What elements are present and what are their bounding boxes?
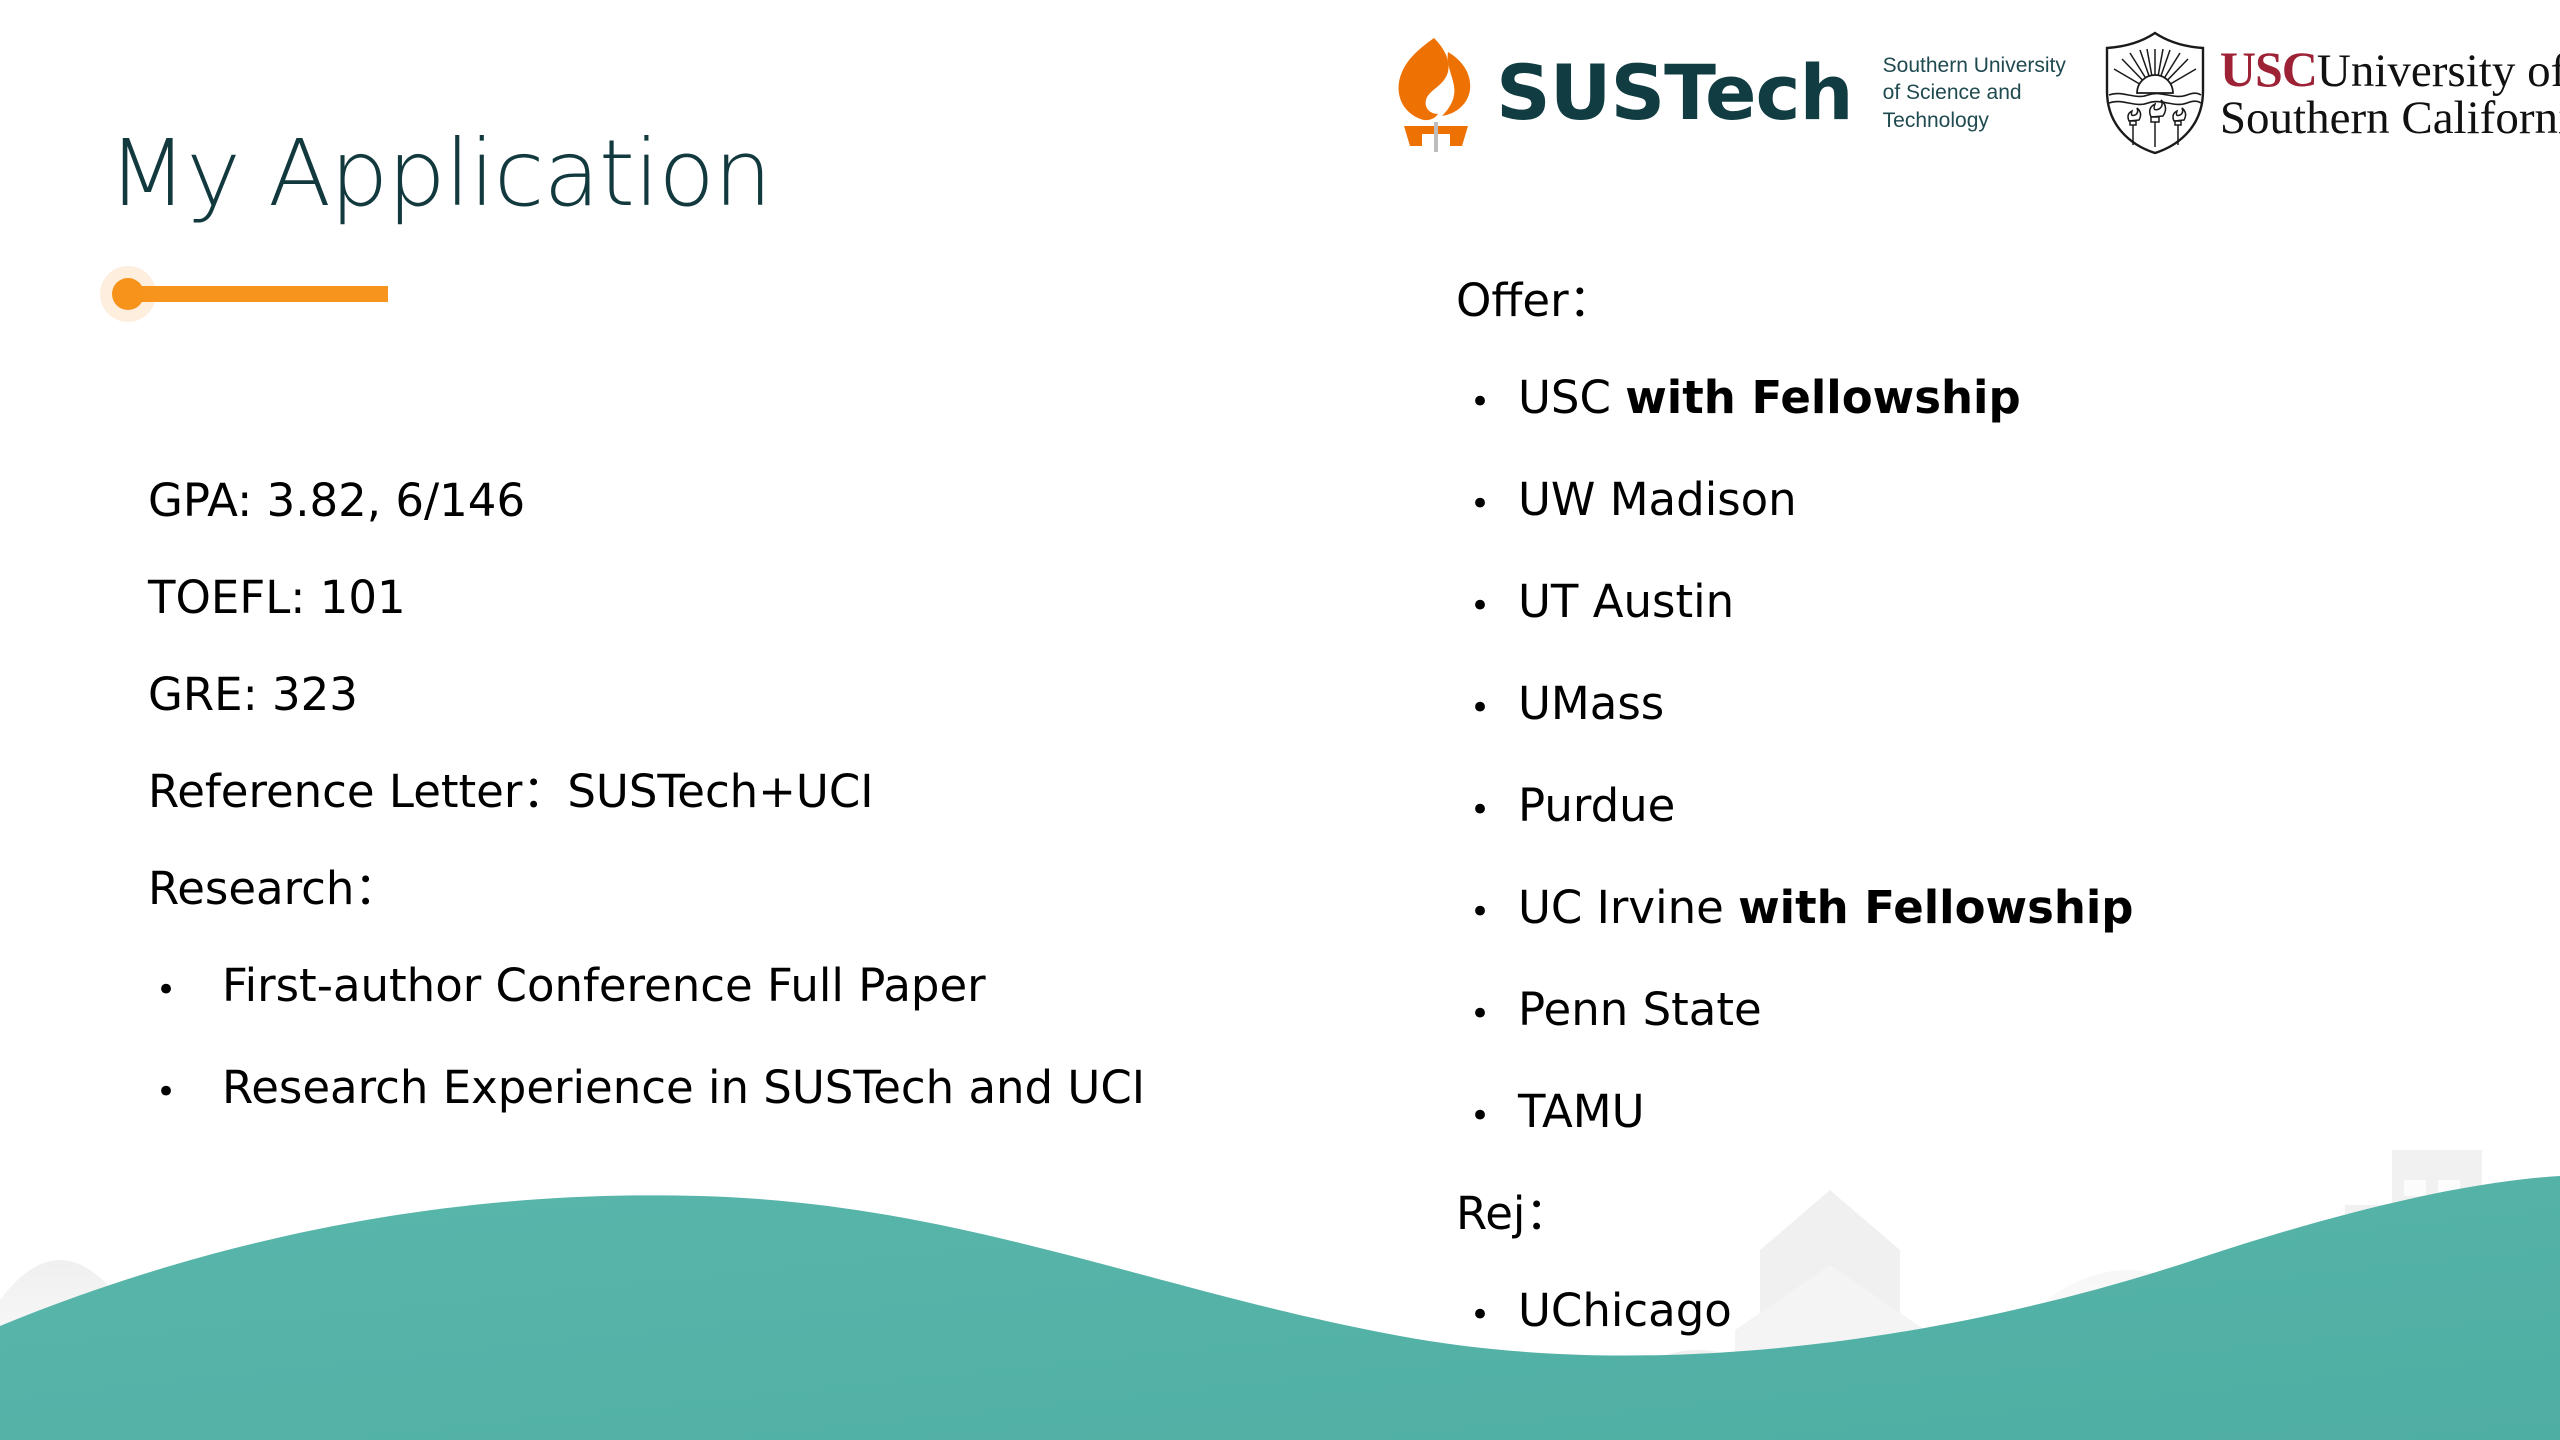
offer-item-tamu: TAMU [1518,1063,1645,1160]
sustech-logo: SUSTech Southern University of Science a… [1390,34,2066,152]
list-item: • TAMU [1456,1063,2456,1165]
usc-initials: USC [2220,45,2317,94]
bullet-icon: • [1456,1267,1518,1364]
page-title: My Application [108,122,771,225]
sustech-tagline-line-2: of Science and [1883,79,2066,106]
left-line-research-heading: Research： [148,840,1328,937]
offer-item-usc: USC with Fellowship [1518,349,2021,446]
left-bullet-first-author-paper: First-author Conference Full Paper [222,937,986,1034]
rej-item-uchicago: UChicago [1518,1262,1732,1359]
list-item: • Penn State [1456,961,2456,1063]
list-item: • First-author Conference Full Paper [148,937,1328,1039]
sustech-wordmark: SUSTech [1496,55,1853,131]
slide-canvas: SUSTech Southern University of Science a… [0,0,2560,1440]
offer-item-uc-irvine: UC Irvine with Fellowship [1518,859,2134,956]
bullet-icon: • [1456,660,1518,757]
bullet-icon: • [1456,456,1518,553]
sustech-torch-flame-icon [1390,34,1482,152]
bullet-icon: • [1456,966,1518,1063]
offer-heading: Offer： [1456,252,2456,349]
list-item: • UChicago [1456,1262,2456,1364]
offer-item-umass: UMass [1518,655,1664,752]
left-bullet-research-experience: Research Experience in SUSTech and UCI [222,1039,1145,1136]
usc-shield-crest-icon [2102,29,2208,157]
sustech-tagline-line-3: Technology [1883,107,2066,134]
left-line-gre: GRE: 323 [148,646,1328,743]
title-accent-decoration [98,262,398,326]
list-item: • UC Irvine with Fellowship [1456,859,2456,961]
list-item: • UT Austin [1456,553,2456,655]
left-line-toefl: TOEFL: 101 [148,549,1328,646]
offer-item-penn-state: Penn State [1518,961,1762,1058]
usc-line-2: Southern California [2220,95,2560,141]
right-column: Offer： • USC with Fellowship • UW Madiso… [1456,252,2456,1364]
offer-item-uw-madison: UW Madison [1518,451,1797,548]
list-item: • USC with Fellowship [1456,349,2456,451]
sustech-wordmark-upper: SUST [1496,48,1705,137]
sustech-tagline: Southern University of Science and Techn… [1883,52,2066,134]
bullet-icon: • [1456,558,1518,655]
bullet-icon: • [148,1044,222,1141]
list-item: • UMass [1456,655,2456,757]
offer-item-ut-austin: UT Austin [1518,553,1734,650]
list-item: • Research Experience in SUSTech and UCI [148,1039,1328,1141]
list-item: • UW Madison [1456,451,2456,553]
sustech-tagline-line-1: Southern University [1883,52,2066,79]
bullet-icon: • [1456,864,1518,961]
bullet-icon: • [1456,354,1518,451]
left-line-reference-letter: Reference Letter：SUSTech+UCI [148,743,1328,840]
accent-bar [124,286,388,302]
left-line-gpa: GPA: 3.82, 6/146 [148,452,1328,549]
bullet-icon: • [148,942,222,1039]
left-column: GPA: 3.82, 6/146 TOEFL: 101 GRE: 323 Ref… [148,452,1328,1141]
usc-logo: USC University of Southern California [2102,29,2560,157]
bullet-icon: • [1456,762,1518,859]
offer-item-purdue: Purdue [1518,757,1675,854]
rej-heading: Rej： [1456,1165,2456,1262]
tower-building-icon [520,1220,710,1440]
tower-windows [564,1286,653,1373]
accent-dot [112,278,144,310]
bullet-icon: • [1456,1068,1518,1165]
sustech-wordmark-lower: ech [1705,48,1853,137]
usc-wordmark: USC University of Southern California [2220,45,2560,140]
usc-line-1: University of [2317,48,2560,94]
logo-bar: SUSTech Southern University of Science a… [1390,28,2560,158]
list-item: • Purdue [1456,757,2456,859]
